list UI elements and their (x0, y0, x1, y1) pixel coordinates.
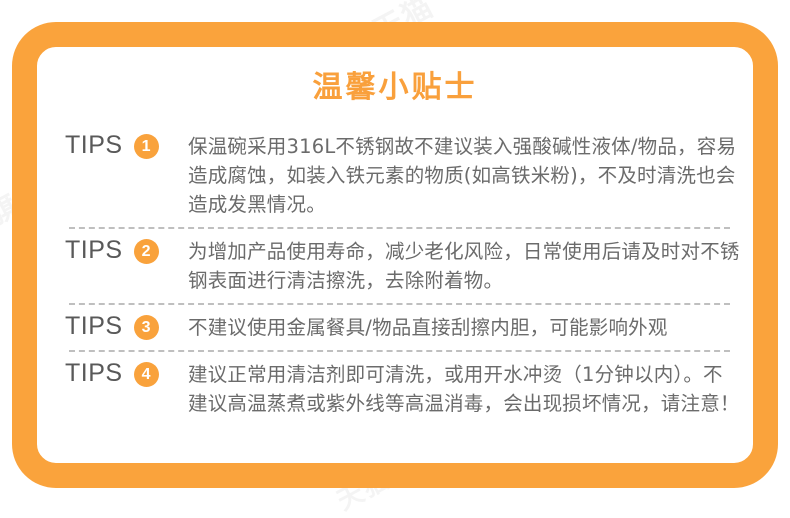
tip-text: 不建议使用金属餐具/物品直接刮擦内胆，可能影响外观 (188, 312, 740, 342)
tip-label-group: TIPS 4 (65, 359, 188, 388)
page-title: 温馨小贴士 (37, 47, 753, 106)
tips-list: TIPS 1 保温碗采用316L不锈钢故不建议装入强酸碱性液体/物品，容易造成腐… (37, 124, 753, 426)
list-item: TIPS 3 不建议使用金属餐具/物品直接刮擦内胆，可能影响外观 (65, 305, 740, 350)
tip-text: 为增加产品使用寿命，减少老化风险，日常使用后请及时对不锈钢表面进行清洁擦洗，去除… (188, 236, 740, 295)
tip-label: TIPS (65, 359, 123, 388)
tip-label-group: TIPS 3 (65, 312, 188, 341)
tip-number-badge: 2 (134, 239, 159, 264)
list-item: TIPS 1 保温碗采用316L不锈钢故不建议装入强酸碱性液体/物品，容易造成腐… (65, 124, 740, 227)
tip-label: TIPS (65, 236, 123, 265)
tip-label: TIPS (65, 312, 123, 341)
tip-text: 保温碗采用316L不锈钢故不建议装入强酸碱性液体/物品，容易造成腐蚀，如装入铁元… (188, 131, 740, 219)
tip-label: TIPS (65, 131, 123, 160)
list-item: TIPS 4 建议正常用清洁剂即可清洗，或用开水冲烫（1分钟以内）。不建议高温蒸… (65, 352, 740, 426)
tip-number-badge: 4 (134, 362, 159, 387)
list-item: TIPS 2 为增加产品使用寿命，减少老化风险，日常使用后请及时对不锈钢表面进行… (65, 229, 740, 303)
tip-number-badge: 3 (134, 315, 159, 340)
tip-label-group: TIPS 2 (65, 236, 188, 265)
tip-label-group: TIPS 1 (65, 131, 188, 160)
tip-number-badge: 1 (134, 134, 159, 159)
tip-text: 建议正常用清洁剂即可清洗，或用开水冲烫（1分钟以内）。不建议高温蒸煮或紫外线等高… (188, 359, 740, 418)
tips-card: 温馨小贴士 TIPS 1 保温碗采用316L不锈钢故不建议装入强酸碱性液体/物品… (37, 47, 753, 463)
